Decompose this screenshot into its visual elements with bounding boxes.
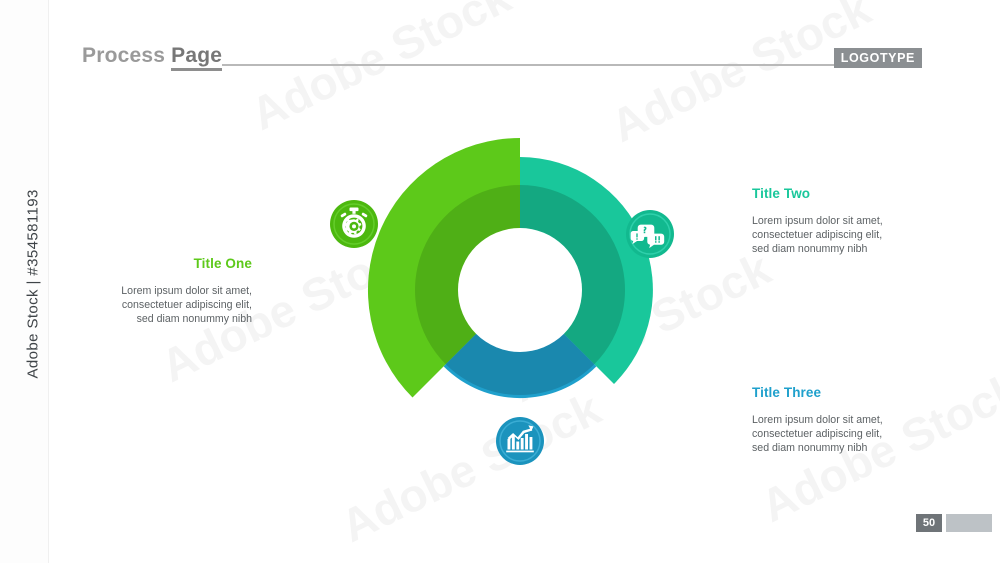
badge-two-teal[interactable] bbox=[626, 210, 674, 258]
header-divider-rule bbox=[222, 64, 846, 66]
title-two-heading: Title Two bbox=[752, 186, 912, 201]
logotype-badge[interactable]: LOGOTYPE bbox=[834, 48, 922, 68]
title-three-body: Lorem ipsum dolor sit amet, consectetuer… bbox=[752, 413, 912, 456]
title-one-body: Lorem ipsum dolor sit amet, consectetuer… bbox=[100, 284, 252, 327]
slide-canvas: Adobe Stock Adobe Stock Adobe Stock Adob… bbox=[0, 0, 1000, 563]
watermark-vertical-text: Adobe Stock | #354581193 bbox=[25, 149, 42, 379]
process-donut-chart bbox=[300, 95, 740, 495]
title-one-heading: Title One bbox=[100, 256, 252, 271]
text-block-three: Title Three Lorem ipsum dolor sit amet, … bbox=[752, 385, 912, 456]
text-block-one: Title One Lorem ipsum dolor sit amet, co… bbox=[100, 256, 252, 327]
title-two-body: Lorem ipsum dolor sit amet, consectetuer… bbox=[752, 214, 912, 257]
footer-accent-bar bbox=[946, 514, 992, 532]
badge-one-green[interactable] bbox=[330, 200, 378, 248]
title-three-heading: Title Three bbox=[752, 385, 912, 400]
donut-center-hole bbox=[458, 228, 582, 352]
text-block-two: Title Two Lorem ipsum dolor sit amet, co… bbox=[752, 186, 912, 257]
badge-three-circle bbox=[496, 417, 544, 465]
page-title: Process Page bbox=[82, 44, 222, 68]
page-number-badge: 50 bbox=[916, 514, 942, 532]
page-title-light: Process bbox=[82, 44, 171, 67]
badge-three-blue[interactable] bbox=[496, 417, 544, 465]
page-title-strong: Page bbox=[171, 44, 222, 71]
